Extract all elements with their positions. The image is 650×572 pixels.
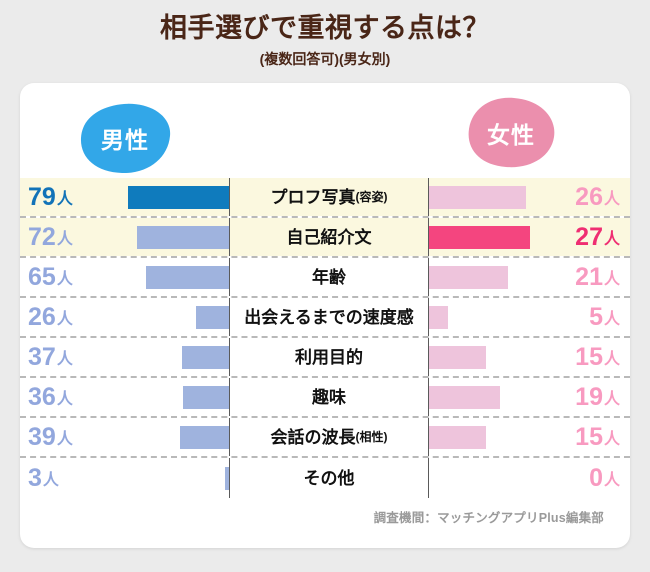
male-bar-4 [182,346,229,369]
female-bar-track-0 [429,178,530,216]
female-bar-6 [429,426,486,449]
table-row: 72人自己紹介文27人 [20,218,630,258]
male-bar-0 [128,186,229,209]
category-label-4: 利用目的 [229,338,429,376]
legend-female-label: 女性 [487,116,535,150]
female-bar-track-2 [429,258,530,296]
male-number: 79 [28,183,56,212]
table-row: 3人その他0人 [20,458,630,498]
female-unit: 人 [604,185,620,209]
female-unit: 人 [604,265,620,289]
male-bar-track-4 [128,338,229,376]
female-number: 27 [575,223,603,252]
male-bar-track-7 [128,458,229,498]
category-sub: (容姿) [356,191,388,203]
male-value-2: 65人 [20,258,128,296]
male-number: 37 [28,343,56,372]
female-number: 21 [575,263,603,292]
female-value-3: 5人 [530,298,630,336]
female-bar-track-7 [429,458,530,498]
category-main: 利用目的 [295,349,363,366]
male-bar-track-5 [128,378,229,416]
page-subtitle: (複数回答可)(男女別) [0,49,650,69]
female-value-7: 0人 [530,458,630,498]
male-value-5: 36人 [20,378,128,416]
female-number: 15 [575,343,603,372]
male-value-6: 39人 [20,418,128,456]
title-block: 相手選びで重視する点は？ (複数回答可)(男女別) [0,0,650,69]
male-number: 39 [28,423,56,452]
male-bar-3 [196,306,229,329]
category-main: 趣味 [312,389,346,406]
category-label-0: プロフ写真(容姿) [229,178,429,216]
male-number: 3 [28,464,42,493]
male-value-4: 37人 [20,338,128,376]
category-main: 年齢 [312,269,346,286]
female-number: 15 [575,423,603,452]
female-bar-track-5 [429,378,530,416]
table-row: 79人プロフ写真(容姿)26人 [20,178,630,218]
male-unit: 人 [57,265,73,289]
female-unit: 人 [604,225,620,249]
category-main: プロフ写真 [271,189,356,206]
male-bar-7 [225,467,229,490]
category-main: 自己紹介文 [287,229,372,246]
female-bar-track-4 [429,338,530,376]
female-unit: 人 [604,425,620,449]
table-row: 26人出会えるまでの速度感5人 [20,298,630,338]
male-bar-track-6 [128,418,229,456]
chart-rows: 79人プロフ写真(容姿)26人72人自己紹介文27人65人年齢21人26人出会え… [20,178,630,498]
category-main: 出会えるまでの速度感 [244,309,414,326]
male-bar-1 [137,226,229,249]
female-bar-1 [429,226,530,249]
category-label-5: 趣味 [229,378,429,416]
category-label-1: 自己紹介文 [229,218,429,256]
male-unit: 人 [43,466,59,490]
male-bar-track-2 [128,258,229,296]
female-number: 26 [575,183,603,212]
female-number: 5 [589,303,603,332]
female-bar-3 [429,306,448,329]
female-bar-track-1 [429,218,530,256]
male-unit: 人 [57,385,73,409]
female-value-1: 27人 [530,218,630,256]
table-row: 37人利用目的15人 [20,338,630,378]
female-value-2: 21人 [530,258,630,296]
female-unit: 人 [604,385,620,409]
page-title: 相手選びで重視する点は？ [0,13,650,44]
female-value-0: 26人 [530,178,630,216]
category-label-2: 年齢 [229,258,429,296]
legend-female-blob: 女性 [464,97,558,169]
chart-card: 男性 女性 79人プロフ写真(容姿)26人72人自己紹介文27人65人年齢21人… [20,83,630,548]
category-sub: (相性) [356,431,388,443]
female-value-4: 15人 [530,338,630,376]
male-unit: 人 [57,345,73,369]
female-number: 0 [589,464,603,493]
male-number: 36 [28,383,56,412]
female-unit: 人 [604,466,620,490]
infographic-page: 相手選びで重視する点は？ (複数回答可)(男女別) 男性 女性 79人プロフ写真… [0,0,650,572]
source-credit: 調査機間：マッチングアプリPlus編集部 [374,507,604,526]
male-value-0: 79人 [20,178,128,216]
male-bar-2 [146,266,229,289]
female-bar-0 [429,186,526,209]
female-value-6: 15人 [530,418,630,456]
female-value-5: 19人 [530,378,630,416]
female-bar-2 [429,266,508,289]
category-label-3: 出会えるまでの速度感 [229,298,429,336]
female-bar-4 [429,346,486,369]
female-unit: 人 [604,305,620,329]
male-bar-6 [180,426,229,449]
category-main: 会話の波長 [271,429,356,446]
male-bar-track-3 [128,298,229,336]
male-bar-track-0 [128,178,229,216]
female-bar-track-3 [429,298,530,336]
female-unit: 人 [604,345,620,369]
category-label-6: 会話の波長(相性) [229,418,429,456]
male-unit: 人 [57,425,73,449]
male-unit: 人 [57,185,73,209]
male-unit: 人 [57,305,73,329]
male-value-1: 72人 [20,218,128,256]
male-value-3: 26人 [20,298,128,336]
table-row: 65人年齢21人 [20,258,630,298]
female-bar-5 [429,386,500,409]
male-bar-track-1 [128,218,229,256]
male-unit: 人 [57,225,73,249]
female-bar-track-6 [429,418,530,456]
male-number: 26 [28,303,56,332]
male-value-7: 3人 [20,458,128,498]
legend-male-blob: 男性 [78,102,172,174]
male-number: 72 [28,223,56,252]
legend-male-label: 男性 [101,121,149,155]
category-label-7: その他 [229,458,429,498]
female-number: 19 [575,383,603,412]
male-number: 65 [28,263,56,292]
male-bar-5 [183,386,229,409]
table-row: 39人会話の波長(相性)15人 [20,418,630,458]
table-row: 36人趣味19人 [20,378,630,418]
category-main: その他 [304,470,355,487]
